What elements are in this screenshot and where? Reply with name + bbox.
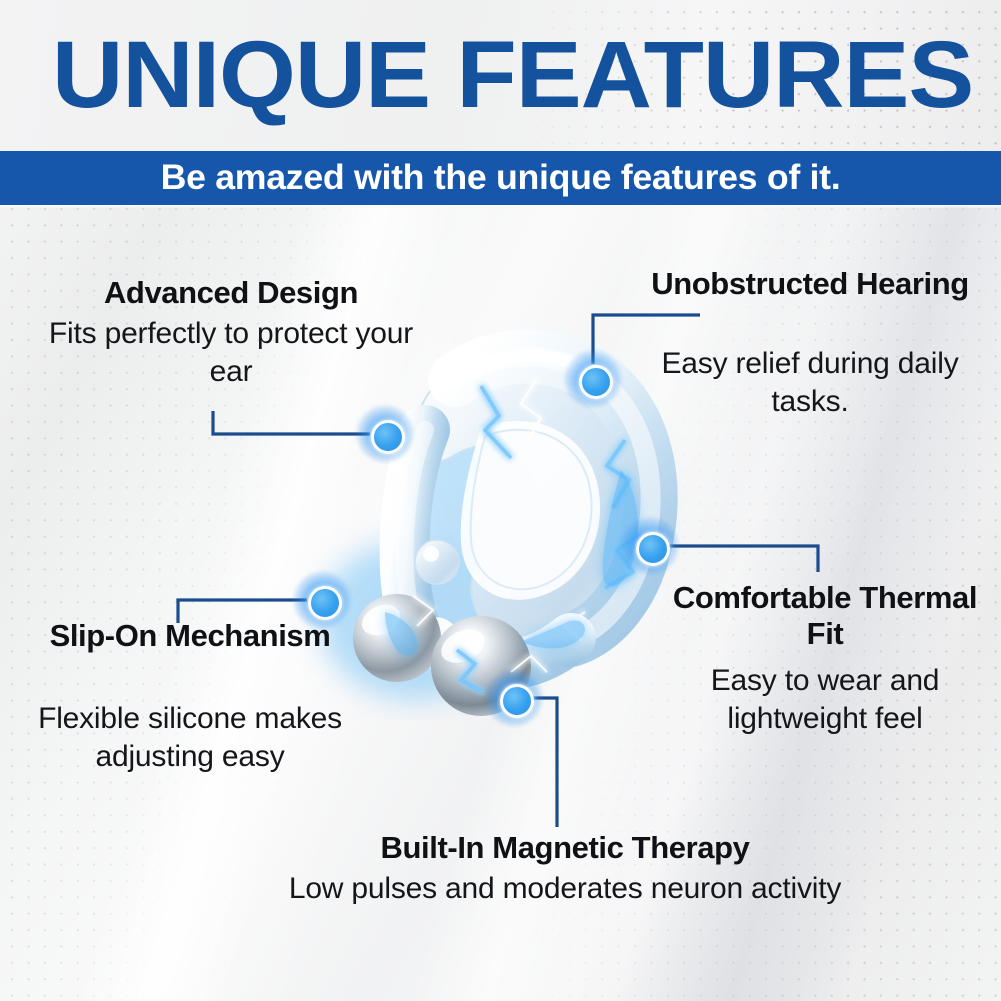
page-title: UNIQUE FEATURES: [52, 25, 988, 125]
hotspot-ring: [579, 365, 613, 399]
feature-title-unobstructed-hearing: Unobstructed Hearing: [640, 266, 980, 302]
feature-description-built-in-magnetic-therapy: Low pulses and moderates neuron activity: [280, 870, 850, 908]
header: UNIQUE FEATURES Be amazed with the uniqu…: [0, 0, 1001, 206]
feature-description-advanced-design: Fits perfectly to protect your ear: [36, 315, 426, 391]
hotspot-advanced-design[interactable]: [362, 411, 408, 457]
hotspot-ring: [308, 586, 342, 620]
feature-title-comfortable-thermal-fit: Comfortable Thermal Fit: [660, 580, 990, 652]
hotspot-slip-on-mechanism[interactable]: [299, 577, 345, 623]
feature-title-slip-on-mechanism: Slip-On Mechanism: [20, 618, 360, 654]
hotspot-ring: [371, 420, 405, 454]
infographic-page: UNIQUE FEATURES Be amazed with the uniqu…: [0, 0, 1001, 1001]
feature-description-slip-on-mechanism: Flexible silicone makes adjusting easy: [10, 700, 370, 776]
feature-description-unobstructed-hearing: Easy relief during daily tasks.: [640, 345, 980, 421]
feature-title-built-in-magnetic-therapy: Built-In Magnetic Therapy: [280, 830, 850, 866]
hotspot-comfortable-thermal-fit[interactable]: [627, 523, 673, 569]
page-subtitle: Be amazed with the unique features of it…: [0, 151, 1001, 205]
feature-title-advanced-design: Advanced Design: [36, 275, 426, 311]
hotspot-ring: [636, 532, 670, 566]
hotspot-unobstructed-hearing[interactable]: [570, 356, 616, 402]
subtitle-bar-underline: [0, 205, 1001, 208]
feature-description-comfortable-thermal-fit: Easy to wear and lightweight feel: [650, 662, 1000, 738]
hotspot-ring: [500, 684, 534, 718]
hotspot-built-in-magnetic-therapy[interactable]: [491, 675, 537, 721]
